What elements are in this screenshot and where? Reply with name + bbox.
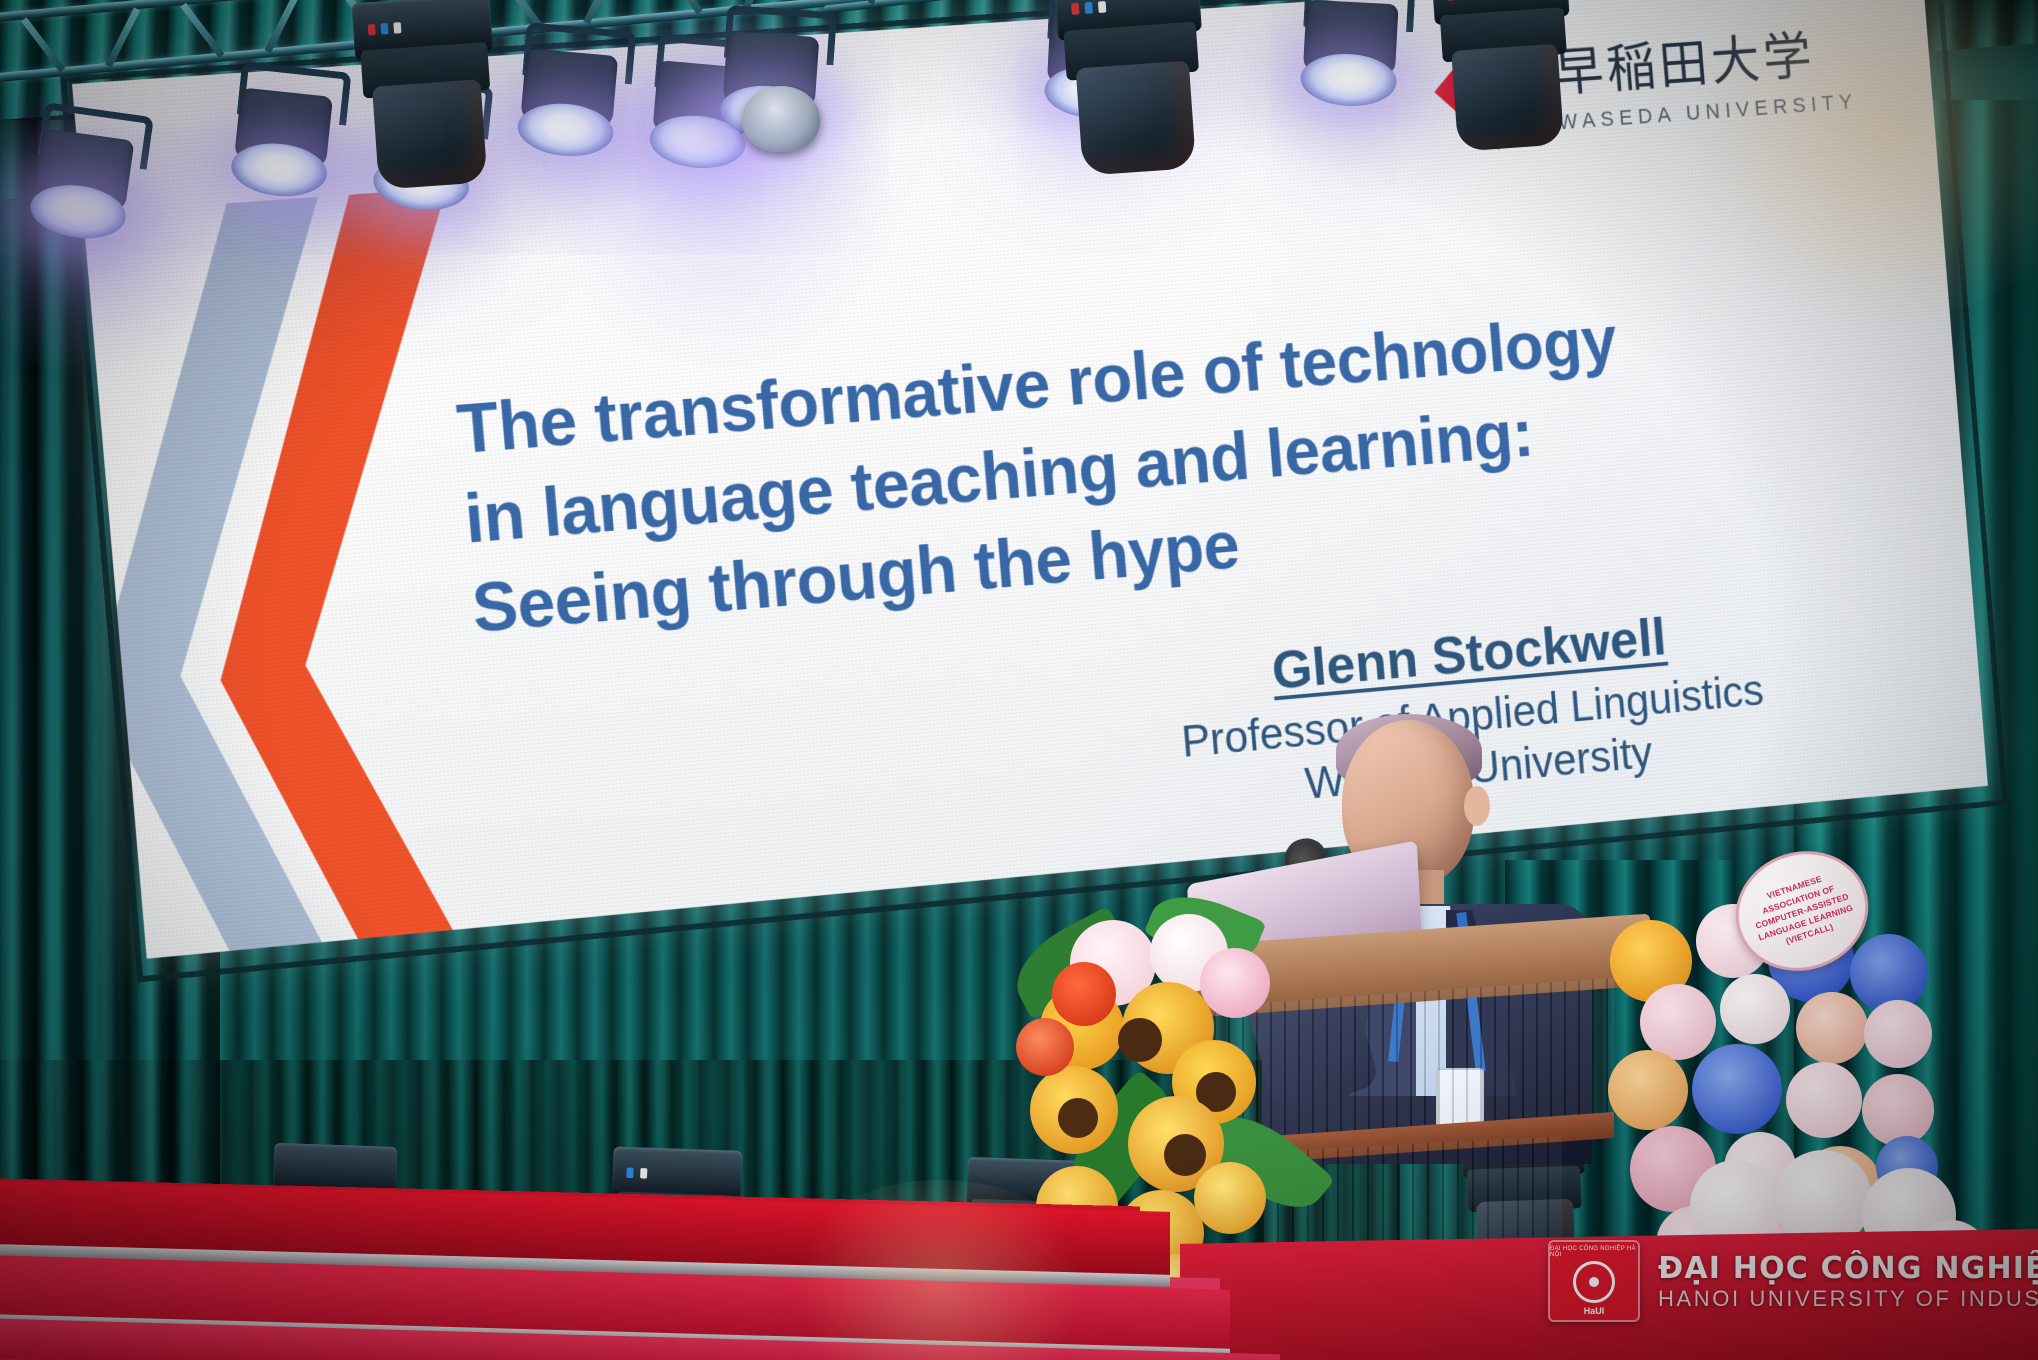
par-light-2 [222, 81, 341, 204]
haui-mark-bottom-label: HaUI [1584, 1306, 1605, 1316]
haui-mark-top-label: ĐẠI HỌC CÔNG NGHIỆP HÀ NỘI [1550, 1246, 1638, 1258]
par-light-1 [21, 121, 144, 247]
lighting-truss-secondary [816, 0, 2038, 16]
haui-name-vi: ĐẠI HỌC CÔNG NGHIỆP HÀ NỘI [1658, 1251, 2038, 1286]
vietcall-badge-text: VIETNAMESE ASSOCIATION OF COMPUTER-ASSIS… [1732, 862, 1873, 960]
haui-atom-icon [1573, 1261, 1615, 1303]
par-light-4 [509, 42, 626, 163]
moving-head-light-truss-3 [1431, 0, 1579, 158]
moving-head-light-truss-1 [351, 0, 502, 196]
par-light-8 [1293, 0, 1407, 111]
haui-host-logo: ĐẠI HỌC CÔNG NGHIỆP HÀ NỘI HaUI ĐẠI HỌC … [1548, 1240, 2038, 1322]
slide-title: The transformative role of technology in… [454, 278, 1868, 654]
haui-name-en: HANOI UNIVERSITY OF INDUSTRY [1658, 1286, 2038, 1312]
haui-logo-mark-icon: ĐẠI HỌC CÔNG NGHIỆP HÀ NỘI HaUI [1548, 1240, 1640, 1322]
speaker-ear [1464, 786, 1490, 826]
stage-curtain-right-shadow [1974, 100, 2038, 1250]
ceiling-dome-camera-icon [742, 86, 820, 152]
moving-head-light-truss-2 [1054, 0, 1212, 183]
stage-scene: The transformative role of technology in… [0, 0, 2038, 1360]
